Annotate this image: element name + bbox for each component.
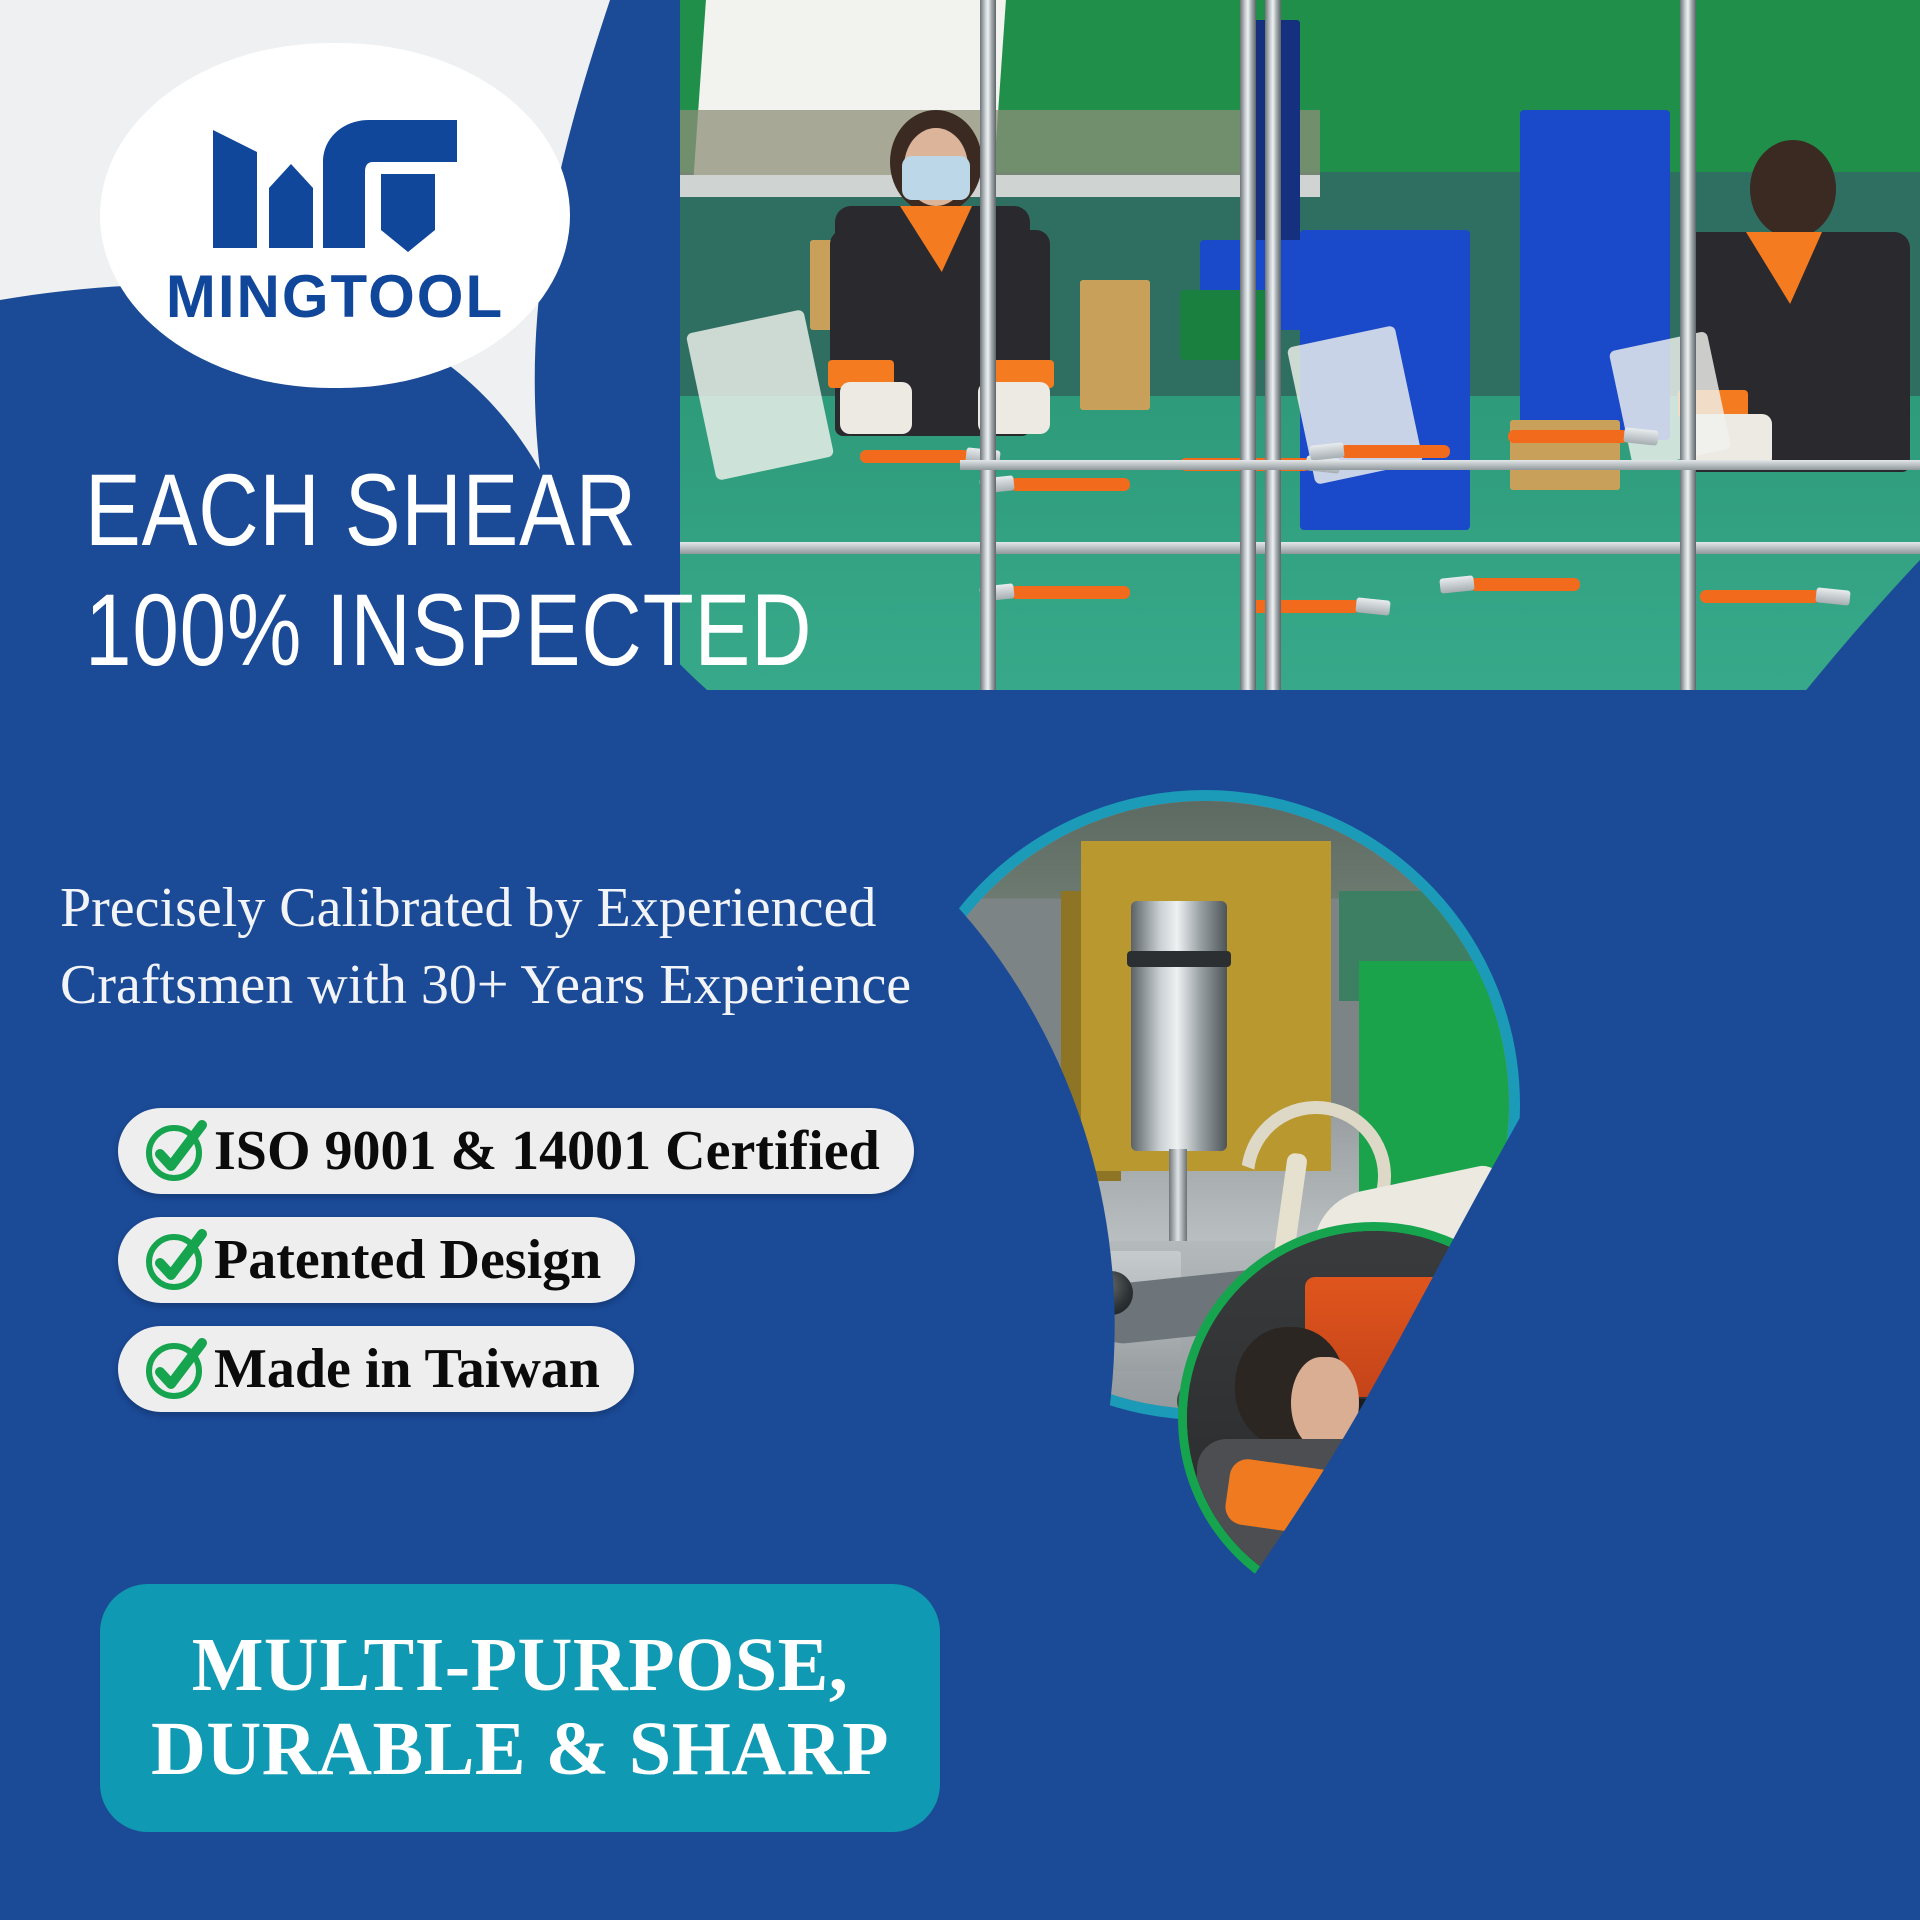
- spindle: [1131, 901, 1227, 1151]
- worker-head: [890, 110, 982, 214]
- bolt: [949, 1253, 993, 1297]
- drill-bit: [1169, 1149, 1187, 1249]
- check-circle-icon: [140, 1333, 212, 1405]
- feature-label: ISO 9001 & 14001 Certified: [214, 1123, 880, 1179]
- feature-label: Patented Design: [214, 1232, 601, 1288]
- subtitle-line-1: Precisely Calibrated by Experienced: [60, 870, 1060, 947]
- shear-product: [1340, 445, 1450, 458]
- brand-wordmark: MINGTOOL: [166, 262, 504, 331]
- poster-canvas: MINGTOOL EACH SHEAR 100% INSPECTED Preci…: [0, 0, 1920, 1920]
- clamp-block: [921, 1231, 1071, 1341]
- headline-line-1: EACH SHEAR: [85, 450, 872, 570]
- shear-product: [1700, 590, 1820, 603]
- worker-arm: [988, 230, 1050, 380]
- tagline-line-2: DURABLE & SHARP: [151, 1708, 889, 1792]
- carton: [1080, 280, 1150, 410]
- shelf: [680, 175, 1320, 197]
- feature-label: Made in Taiwan: [214, 1341, 600, 1397]
- shear-product: [1240, 600, 1360, 613]
- bolt: [1089, 1271, 1133, 1315]
- worker-scene: [1187, 1231, 1561, 1605]
- feature-pill-iso[interactable]: ISO 9001 & 14001 Certified: [118, 1108, 914, 1194]
- worker-arm: [830, 230, 892, 380]
- subtitle-line-2: Craftsmen with 30+ Years Experience: [60, 947, 1060, 1024]
- feature-pill-taiwan[interactable]: Made in Taiwan: [118, 1326, 634, 1412]
- worker-photo: [1178, 1222, 1570, 1614]
- tagline-banner: MULTI-PURPOSE, DURABLE & SHARP: [100, 1584, 940, 1832]
- brand-logo: MINGTOOL: [100, 43, 570, 388]
- headline: EACH SHEAR 100% INSPECTED: [85, 450, 1045, 691]
- headline-line-2: 100% INSPECTED: [85, 570, 872, 690]
- frame-post: [1240, 0, 1256, 690]
- shelf-contents: [680, 110, 1320, 176]
- control-knob: [1429, 1407, 1451, 1451]
- label-stripe: [1423, 1313, 1457, 1321]
- face-mask: [902, 156, 970, 200]
- spindle-ring: [1127, 951, 1231, 967]
- mingtool-bars-mark: [195, 100, 475, 260]
- frame-post: [1265, 0, 1281, 690]
- subtitle: Precisely Calibrated by Experienced Craf…: [60, 870, 1060, 1025]
- frame-rail: [960, 460, 1920, 470]
- feature-pill-patent[interactable]: Patented Design: [118, 1217, 635, 1303]
- check-circle-icon: [140, 1115, 212, 1187]
- glove: [840, 382, 912, 434]
- green-bin: [1180, 290, 1270, 360]
- shear-product: [1470, 578, 1580, 591]
- tagline-line-1: MULTI-PURPOSE,: [192, 1624, 849, 1708]
- feature-list: ISO 9001 & 14001 Certified Patented Desi…: [118, 1108, 914, 1435]
- check-circle-icon: [140, 1224, 212, 1296]
- frame-post: [1680, 0, 1696, 690]
- worker-head: [1750, 140, 1836, 238]
- worker-face: [1291, 1357, 1359, 1449]
- shear-product: [1508, 430, 1628, 443]
